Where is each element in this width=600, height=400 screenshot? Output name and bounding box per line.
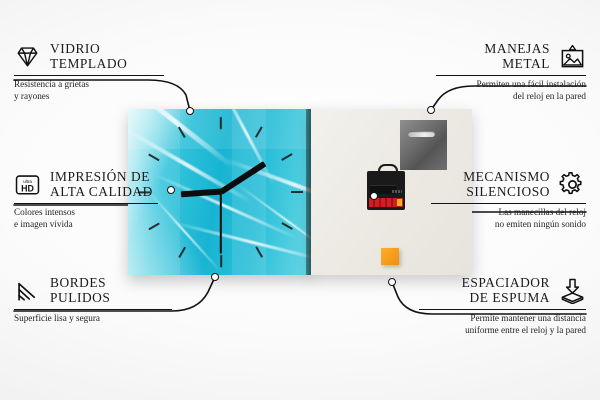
feature-bordes-pulidos: BORDES PULIDOS Superficie lisa y segura bbox=[14, 276, 172, 325]
feature-espaciador-espuma: ESPACIADOR DE ESPUMA Permite mantener un… bbox=[419, 276, 586, 336]
mechanism-contacts bbox=[392, 190, 402, 193]
feature-impresion-hd: ultra HD IMPRESIÓN DE ALTA CALIDAD Color… bbox=[14, 170, 158, 230]
feature-description: Permite mantener una distancia uniforme … bbox=[419, 313, 586, 336]
gear-icon bbox=[559, 171, 586, 198]
feature-manejas-metal: MANEJAS METAL Permiten una fácil instala… bbox=[436, 42, 586, 102]
metal-hanger-plate bbox=[400, 120, 447, 170]
feature-vidrio-templado: VIDRIO TEMPLADO Resistencia a grietas y … bbox=[14, 42, 164, 102]
feature-rule bbox=[14, 75, 164, 76]
feature-title: MANEJAS METAL bbox=[484, 42, 550, 71]
connector-dot-vidrio-templado bbox=[186, 107, 194, 115]
connector-dot-impresion-hd bbox=[167, 186, 175, 194]
connector-dot-espaciador-espuma bbox=[388, 278, 396, 286]
feature-title: MECANISMO SILENCIOSO bbox=[463, 170, 550, 199]
clock-tick bbox=[219, 255, 221, 267]
feature-title: ESPACIADOR DE ESPUMA bbox=[462, 276, 550, 305]
feature-description: Las manecillas del reloj no emiten ningú… bbox=[431, 207, 586, 230]
foam-spacer-icon bbox=[559, 277, 586, 304]
feature-title: VIDRIO TEMPLADO bbox=[50, 42, 127, 71]
orange-foam-spacer bbox=[381, 248, 399, 265]
hanger-slot bbox=[408, 131, 435, 137]
feature-description: Resistencia a grietas y rayones bbox=[14, 79, 164, 102]
clock-mechanism bbox=[367, 171, 405, 210]
feature-rule bbox=[14, 203, 158, 204]
connector-dot-bordes-pulidos bbox=[211, 273, 219, 281]
clock-tick bbox=[291, 191, 303, 193]
feature-rule bbox=[436, 75, 586, 76]
feature-description: Superficie lisa y segura bbox=[14, 313, 172, 324]
feature-title: IMPRESIÓN DE ALTA CALIDAD bbox=[50, 170, 153, 199]
clock-tick bbox=[281, 153, 293, 161]
ultra-hd-icon: ultra HD bbox=[14, 171, 41, 198]
diamond-icon bbox=[14, 43, 41, 70]
clock-tick bbox=[219, 117, 221, 129]
feature-title: BORDES PULIDOS bbox=[50, 276, 110, 305]
connector-dot-manejas-metal bbox=[427, 106, 435, 114]
infographic-canvas: VIDRIO TEMPLADO Resistencia a grietas y … bbox=[0, 0, 600, 400]
svg-text:HD: HD bbox=[21, 183, 34, 193]
feature-description: Permiten una fácil instalación del reloj… bbox=[436, 79, 586, 102]
feature-rule bbox=[431, 203, 586, 204]
feature-mecanismo-silencioso: MECANISMO SILENCIOSO Las manecillas del … bbox=[431, 170, 586, 230]
feature-rule bbox=[419, 309, 586, 310]
connector-dot-mecanismo-silencioso bbox=[370, 192, 378, 200]
mechanism-hook bbox=[378, 164, 398, 175]
feature-rule bbox=[14, 309, 172, 310]
polished-edges-icon bbox=[14, 277, 41, 304]
feature-description: Colores intensos e imagen vívida bbox=[14, 207, 158, 230]
picture-hanger-icon bbox=[559, 43, 586, 70]
clock-second-hand bbox=[220, 192, 222, 254]
